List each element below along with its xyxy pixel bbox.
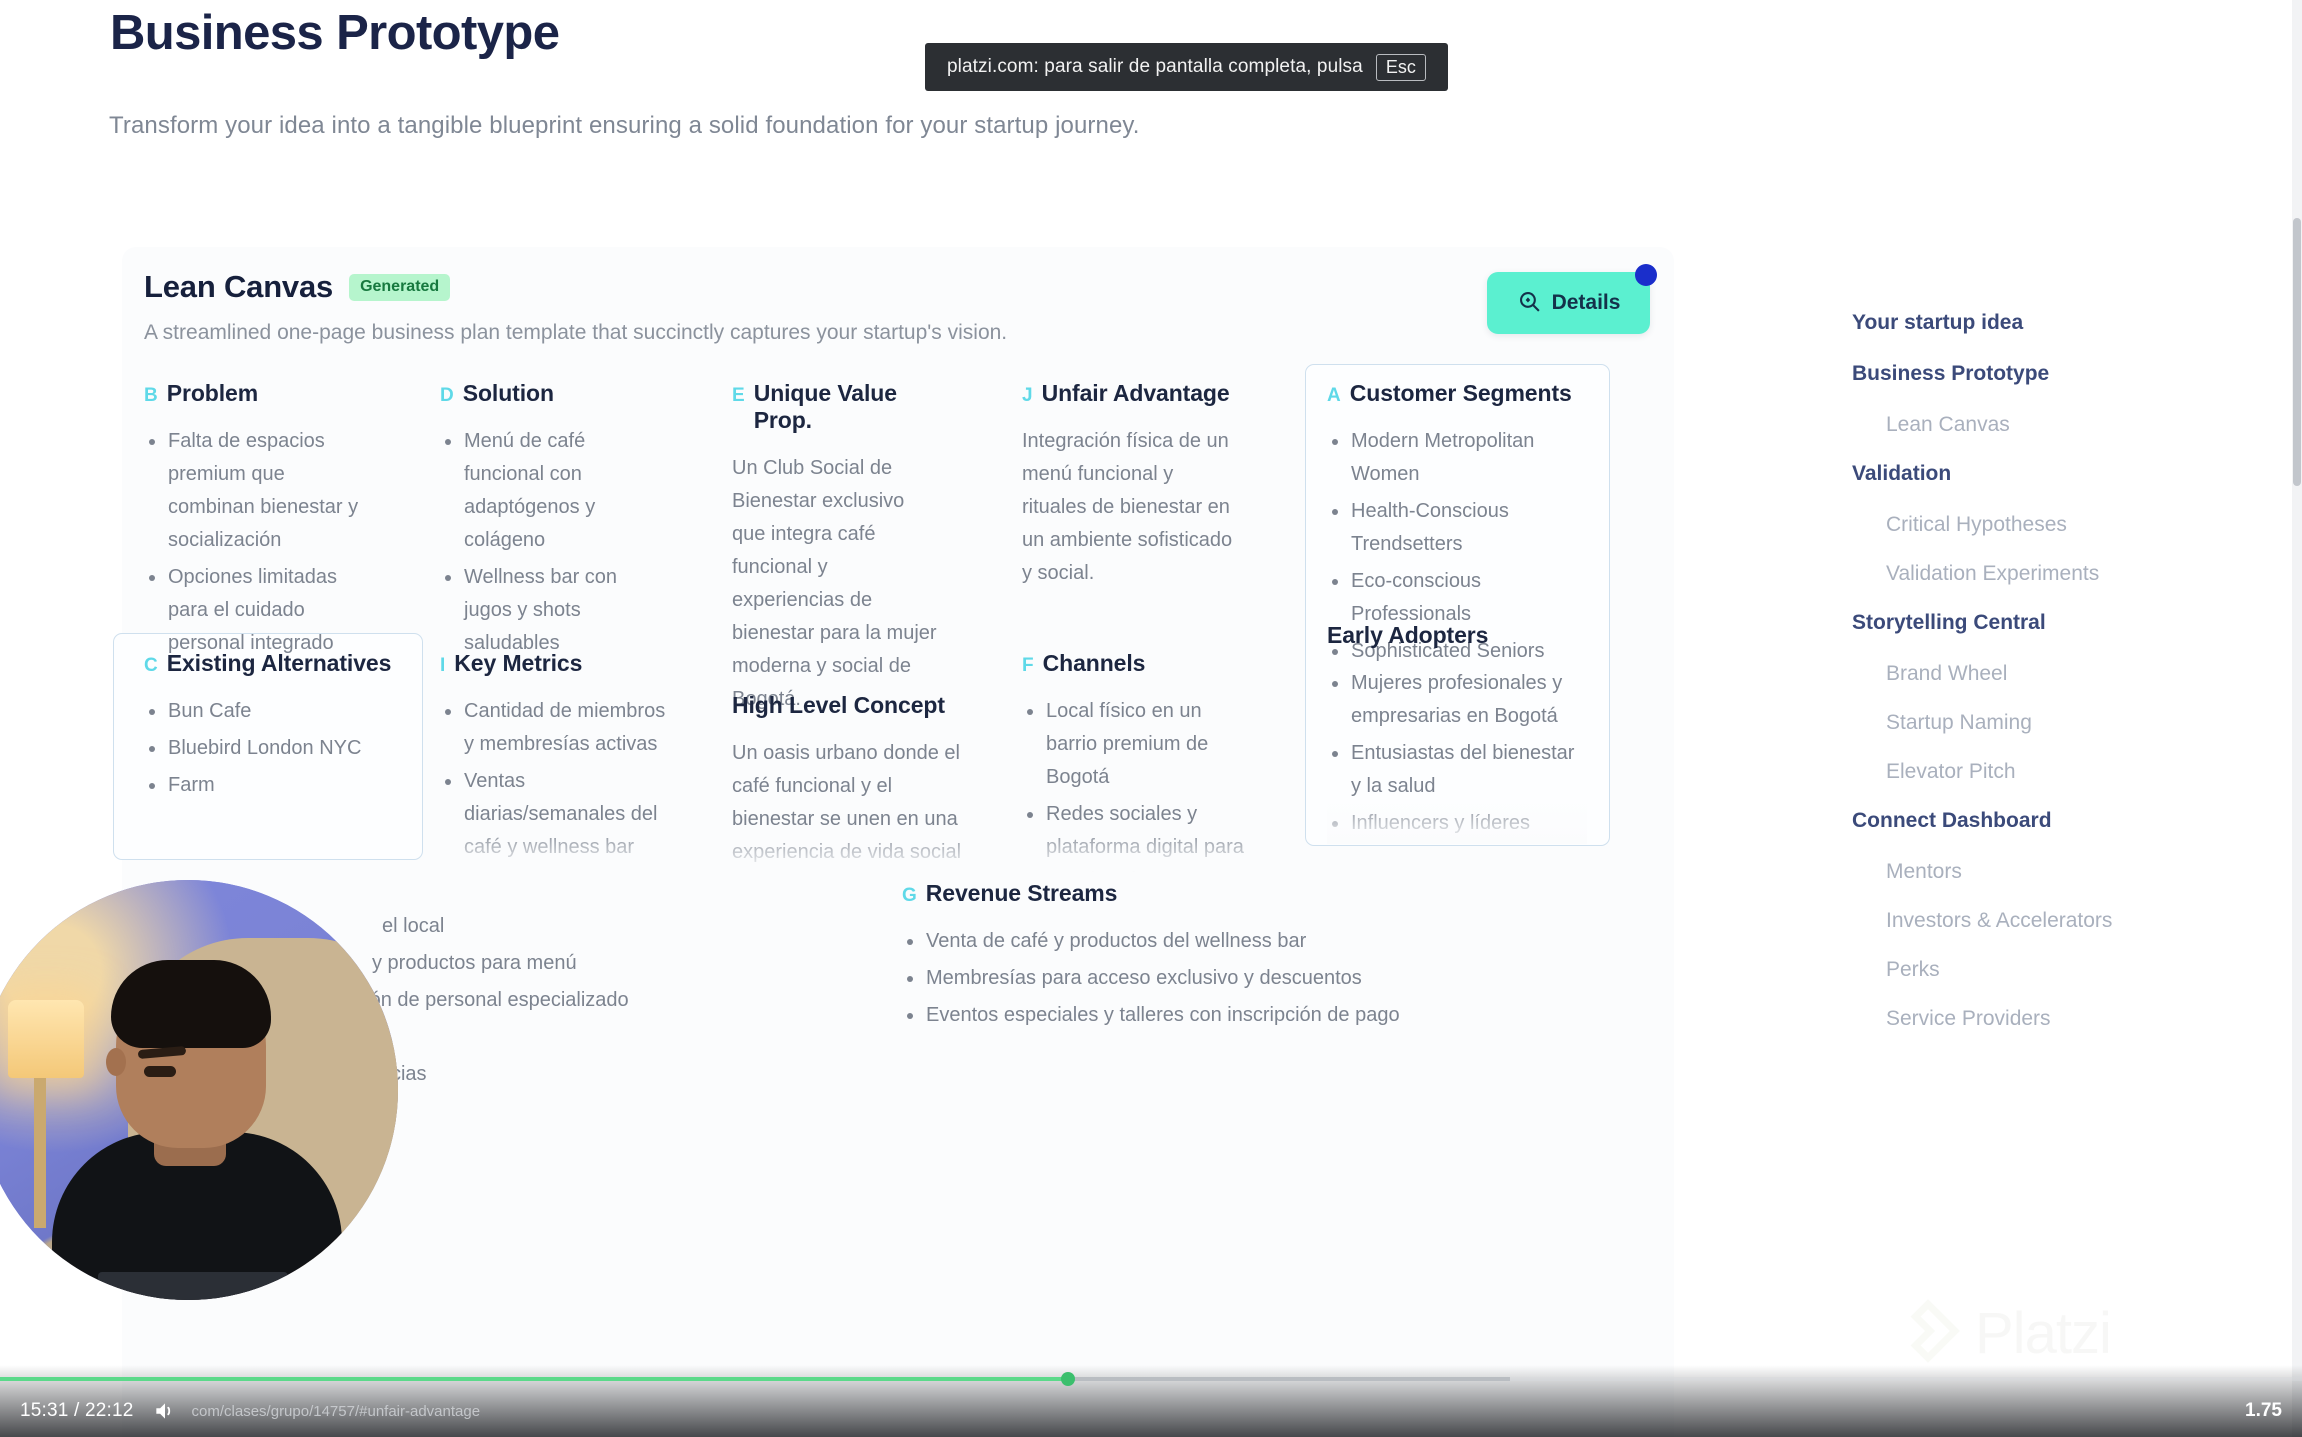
problem-list: Falta de espacios premium que combinan b… [144, 425, 374, 660]
cell-solution: D Solution Menú de café funcional con ad… [440, 380, 640, 664]
toc-item-your-startup-idea[interactable]: Your startup idea [1852, 312, 2232, 333]
lean-canvas-header: Lean Canvas Generated A streamlined one-… [144, 269, 1007, 345]
details-button[interactable]: Details [1487, 272, 1650, 334]
list-item: Influencers y líderes [1327, 807, 1587, 840]
list-item: Redes sociales y plataforma digital para… [1022, 798, 1252, 872]
list-item: Local físico en un barrio premium de Bog… [1022, 695, 1252, 794]
toc-item-critical-hypotheses[interactable]: Critical Hypotheses [1852, 514, 2232, 535]
list-item: Asistencia y [440, 868, 670, 872]
cell-letter: F [1022, 655, 1034, 677]
screen-root: Business Prototype Transform your idea i… [0, 0, 2302, 1437]
toc-item-brand-wheel[interactable]: Brand Wheel [1852, 663, 2232, 684]
toc-item-mentors[interactable]: Mentors [1852, 861, 2232, 882]
video-time-label: 15:31 / 22:12 [20, 1400, 134, 1422]
cell-title: Revenue Streams [926, 880, 1118, 907]
list-item: Falta de espacios premium que combinan b… [144, 425, 374, 557]
page-subtitle: Transform your idea into a tangible blue… [109, 112, 1140, 140]
cell-title: Early Adopters [1327, 622, 1488, 649]
esc-key-badge: Esc [1376, 54, 1426, 81]
details-notification-dot [1635, 264, 1657, 286]
generated-badge: Generated [349, 274, 450, 301]
cell-high-level-concept: High Level Concept Un oasis urbano donde… [732, 692, 977, 872]
details-button-label: Details [1552, 291, 1621, 315]
list-item: Bluebird London NYC [144, 732, 414, 765]
cell-letter: A [1327, 385, 1341, 407]
cell-key-metrics: I Key Metrics Cantidad de miembros y mem… [440, 650, 670, 872]
webcam-person-hair [111, 960, 271, 1048]
cell-revenue-streams: G Revenue Streams Venta de café y produc… [902, 880, 1462, 1036]
platzi-watermark: Platzi [1895, 1298, 2111, 1369]
cell-channels: F Channels Local físico en un barrio pre… [1022, 650, 1252, 872]
cell-letter: J [1022, 385, 1033, 407]
cell-title: High Level Concept [732, 692, 945, 719]
toc-item-business-prototype[interactable]: Business Prototype [1852, 363, 2232, 384]
unfair-advantage-paragraph: Integración física de un menú funcional … [1022, 425, 1242, 590]
cell-existing-alternatives: C Existing Alternatives Bun Cafe Bluebir… [144, 650, 414, 806]
uvp-paragraph: Un Club Social de Bienestar exclusivo qu… [732, 452, 942, 716]
key-metrics-list: Cantidad de miembros y membresías activa… [440, 695, 670, 872]
solution-list: Menú de café funcional con adaptógenos y… [440, 425, 640, 660]
list-item: Menú de café funcional con adaptógenos y… [440, 425, 640, 557]
toc-item-investors-accelerators[interactable]: Investors & Accelerators [1852, 910, 2232, 931]
webcam-person-eye [144, 1066, 176, 1077]
cell-early-adopters: Early Adopters Mujeres profesionales y e… [1327, 622, 1587, 844]
toc-item-connect-dashboard[interactable]: Connect Dashboard [1852, 810, 2232, 831]
webcam-laptop [98, 1272, 288, 1300]
cell-letter: I [440, 655, 445, 677]
status-bar-url: com/clases/grupo/14757/#unfair-advantage [192, 1403, 481, 1420]
toc-item-validation-experiments[interactable]: Validation Experiments [1852, 563, 2232, 584]
existing-alternatives-list: Bun Cafe Bluebird London NYC Farm [144, 695, 414, 802]
toc-item-startup-naming[interactable]: Startup Naming [1852, 712, 2232, 733]
cell-title: Existing Alternatives [167, 650, 392, 677]
cell-title: Unfair Advantage [1042, 380, 1230, 407]
list-item: Wellness bar con jugos y shots saludable… [440, 561, 640, 660]
magnifier-icon [1517, 289, 1542, 317]
cell-unfair-advantage: J Unfair Advantage Integración física de… [1022, 380, 1242, 590]
toc-item-storytelling-central[interactable]: Storytelling Central [1852, 612, 2232, 633]
toc-item-service-providers[interactable]: Service Providers [1852, 1008, 2232, 1029]
platzi-wordmark: Platzi [1975, 1300, 2111, 1367]
toc-item-perks[interactable]: Perks [1852, 959, 2232, 980]
early-adopters-list: Mujeres profesionales y empresarias en B… [1327, 667, 1587, 840]
volume-icon[interactable] [152, 1398, 178, 1424]
page-scrollbar-track[interactable] [2292, 0, 2302, 1437]
cell-title: Problem [167, 380, 258, 407]
list-item: Health-Conscious Trendsetters [1327, 495, 1587, 561]
cell-letter: D [440, 385, 454, 407]
fullscreen-exit-toast: platzi.com: para salir de pantalla compl… [925, 43, 1448, 91]
cell-title: Solution [463, 380, 554, 407]
list-item: Membresías para acceso exclusivo y descu… [902, 962, 1462, 995]
lean-canvas-description: A streamlined one-page business plan tem… [144, 321, 1007, 345]
cell-title: Customer Segments [1350, 380, 1572, 407]
list-item: Opciones limitadas para el cuidado perso… [144, 561, 374, 660]
playback-speed-label[interactable]: 1.75 [2245, 1400, 2282, 1422]
webcam-person-ear [106, 1048, 126, 1076]
list-item: Eventos especiales y talleres con inscri… [902, 999, 1462, 1032]
cell-problem: B Problem Falta de espacios premium que … [144, 380, 374, 664]
toc-item-validation[interactable]: Validation [1852, 463, 2232, 484]
cell-letter: B [144, 385, 158, 407]
toc-item-elevator-pitch[interactable]: Elevator Pitch [1852, 761, 2232, 782]
lean-canvas-title: Lean Canvas [144, 269, 333, 305]
list-item: Entusiastas del bienestar y la salud [1327, 737, 1587, 803]
page-scrollbar-thumb[interactable] [2293, 218, 2301, 486]
list-item: Farm [144, 769, 414, 802]
cell-unique-value-prop: E Unique Value Prop. Un Club Social de B… [732, 380, 942, 716]
cell-letter: E [732, 385, 745, 407]
webcam-bubble [0, 880, 398, 1300]
list-item: Mujeres profesionales y empresarias en B… [1327, 667, 1587, 733]
cell-title: Key Metrics [454, 650, 582, 677]
list-item: Cantidad de miembros y membresías activa… [440, 695, 670, 761]
high-level-concept-paragraph: Un oasis urbano donde el café funcional … [732, 737, 977, 872]
webcam-lamp-stem [34, 1078, 46, 1228]
progress-played [0, 1377, 1068, 1381]
cell-title: Unique Value Prop. [754, 380, 942, 434]
fullscreen-toast-message: platzi.com: para salir de pantalla compl… [947, 56, 1363, 78]
channels-list: Local físico en un barrio premium de Bog… [1022, 695, 1252, 872]
video-progress-bar[interactable] [0, 1377, 2302, 1381]
video-player-controls: 15:31 / 22:12 com/clases/grupo/14757/#un… [0, 1365, 2302, 1437]
cell-letter: G [902, 885, 917, 907]
list-item: Ventas diarias/semanales del café y well… [440, 765, 670, 864]
list-item: Venta de café y productos del wellness b… [902, 925, 1462, 958]
list-item: Bun Cafe [144, 695, 414, 728]
platzi-diamond-icon [1895, 1298, 1961, 1369]
webcam-lamp [8, 1000, 84, 1078]
list-item: Modern Metropolitan Women [1327, 425, 1587, 491]
page-title: Business Prototype [110, 5, 559, 61]
table-of-contents: Your startup idea Business Prototype Lea… [1852, 312, 2232, 1057]
toc-item-lean-canvas[interactable]: Lean Canvas [1852, 414, 2232, 435]
cell-letter: C [144, 655, 158, 677]
cell-title: Channels [1043, 650, 1146, 677]
player-bottom-row: 15:31 / 22:12 com/clases/grupo/14757/#un… [0, 1385, 2302, 1437]
revenue-streams-list: Venta de café y productos del wellness b… [902, 925, 1462, 1032]
